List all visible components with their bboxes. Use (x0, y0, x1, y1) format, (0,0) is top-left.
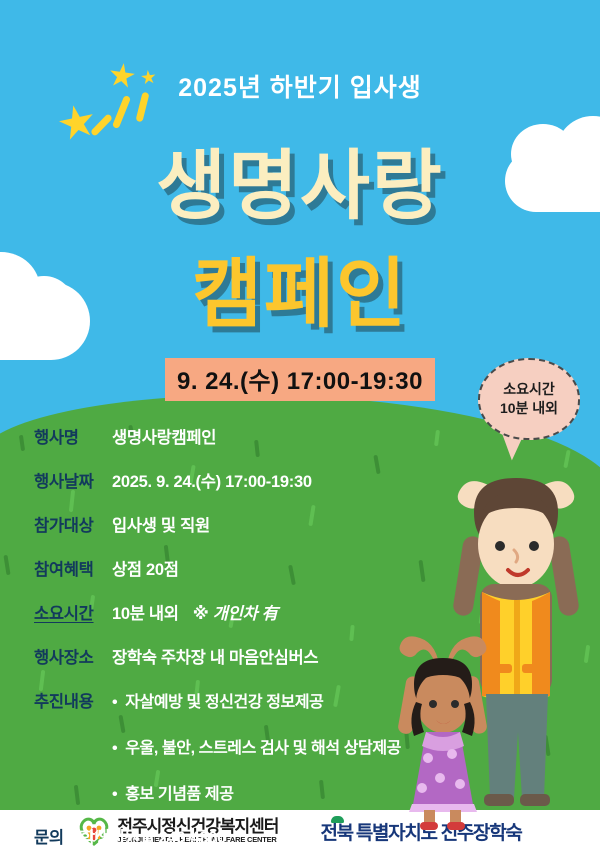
info-value: 10분 내외 (112, 600, 179, 624)
info-label: 소요시간 (34, 600, 112, 624)
bullet-char-icon: • (112, 694, 117, 711)
bullet-char-icon: • (112, 740, 117, 757)
date-banner-text: 9. 24.(수) 17:00-19:30 (165, 358, 435, 401)
info-label: 행사명 (34, 424, 112, 448)
info-value: 입사생 및 직원 (112, 512, 210, 536)
program-bullet-item: •자살예방 및 정신건강 정보제공 (112, 688, 401, 712)
info-note: ※ 개인차 有 (193, 600, 278, 624)
program-bullet-text: 우울, 불안, 스트레스 검사 및 해석 상담제공 (125, 740, 401, 757)
contact-row: 문의 학생지원실 240-4800 (34, 824, 464, 848)
bullet-char-icon: • (112, 786, 117, 803)
program-bullet-item: •홍보 기념품 제공 (112, 780, 401, 804)
info-label: 행사날짜 (34, 468, 112, 492)
contact-label: 문의 (34, 824, 80, 848)
info-row: 소요시간 10분 내외 ※ 개인차 有 (34, 600, 464, 624)
info-list: 행사명 생명사랑캠페인 행사날짜 2025. 9. 24.(수) 17:00-1… (34, 424, 464, 848)
title-line-1: 생명사랑 (0, 124, 600, 234)
program-bullets: •자살예방 및 정신건강 정보제공 •우울, 불안, 스트레스 검사 및 해석 … (112, 688, 401, 804)
program-label: 추진내용 (34, 688, 112, 712)
speech-bubble-line-1: 소요시간 (503, 380, 555, 399)
pre-title: 2025년 하반기 입사생 (0, 68, 600, 104)
info-label: 참여혜택 (34, 556, 112, 580)
info-label: 참가대상 (34, 512, 112, 536)
info-row: 참가대상 입사생 및 직원 (34, 512, 464, 536)
contact-value: 학생지원실 240-4800 (80, 824, 226, 848)
program-bullet-text: 자살예방 및 정신건강 정보제공 (125, 694, 323, 711)
grass-blade-icon (19, 435, 25, 451)
info-row: 행사장소 장학숙 주차장 내 마음안심버스 (34, 644, 464, 668)
program-row: 추진내용 •자살예방 및 정신건강 정보제공 •우울, 불안, 스트레스 검사 … (34, 688, 464, 804)
info-label: 행사장소 (34, 644, 112, 668)
info-row: 행사명 생명사랑캠페인 (34, 424, 464, 448)
title-line-2: 캠페인 (0, 232, 600, 342)
info-row: 참여혜택 상점 20점 (34, 556, 464, 580)
info-value: 상점 20점 (112, 556, 179, 580)
speech-bubble-line-2: 10분 내외 (500, 399, 558, 418)
info-value: 2025. 9. 24.(수) 17:00-19:30 (112, 468, 312, 492)
info-value: 장학숙 주차장 내 마음안심버스 (112, 644, 318, 668)
grass-blade-icon (3, 555, 10, 575)
program-bullet-item: •우울, 불안, 스트레스 검사 및 해석 상담제공 (112, 734, 401, 758)
poster: 2025년 하반기 입사생 생명사랑 캠페인 9. 24.(수) 17:00-1… (0, 0, 600, 852)
program-bullet-text: 홍보 기념품 제공 (125, 786, 233, 803)
info-row: 행사날짜 2025. 9. 24.(수) 17:00-19:30 (34, 468, 464, 492)
speech-bubble: 소요시간 10분 내외 (478, 358, 580, 440)
info-value: 생명사랑캠페인 (112, 424, 216, 448)
